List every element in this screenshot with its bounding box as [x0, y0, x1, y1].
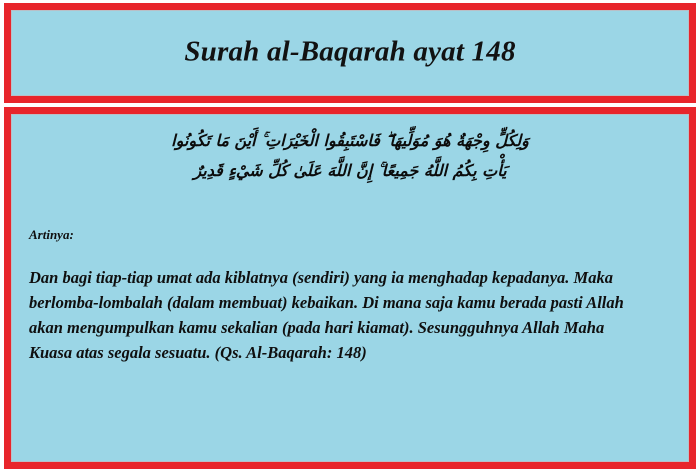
- title-box: Surah al-Baqarah ayat 148: [4, 3, 696, 103]
- translation-paragraph: Dan bagi tiap-tiap umat ada kiblatnya (s…: [29, 265, 649, 365]
- arabic-verse-block: وَلِكُلٍّ وِجْهَةٌ هُوَ مُوَلِّيهَا ۖ فَ…: [25, 122, 675, 185]
- page-title: Surah al-Baqarah ayat 148: [11, 36, 689, 68]
- translation-heading: Artinya:: [29, 227, 675, 243]
- body-box: وَلِكُلٍّ وِجْهَةٌ هُوَ مُوَلِّيهَا ۖ فَ…: [4, 107, 696, 469]
- slide-canvas: Surah al-Baqarah ayat 148 وَلِكُلٍّ وِجْ…: [0, 0, 700, 472]
- arabic-verse-line-1: وَلِكُلٍّ وِجْهَةٌ هُوَ مُوَلِّيهَا ۖ فَ…: [45, 126, 655, 156]
- body-content: وَلِكُلٍّ وِجْهَةٌ هُوَ مُوَلِّيهَا ۖ فَ…: [11, 114, 689, 462]
- arabic-verse-line-2: يَأْتِ بِكُمُ اللَّهُ جَمِيعًا ۚ إِنَّ ا…: [45, 156, 655, 186]
